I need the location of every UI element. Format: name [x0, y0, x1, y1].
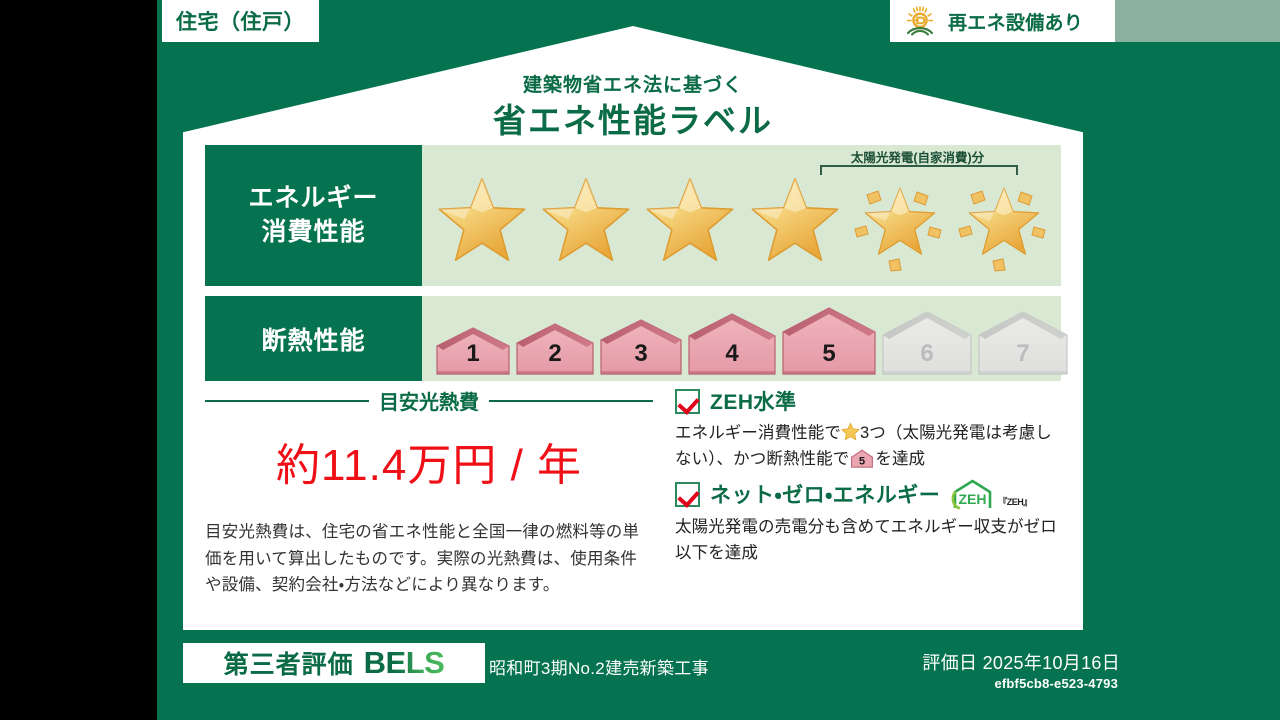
insulation-step-active: 4: [686, 311, 778, 377]
energy-performance-row: エネルギー 消費性能 太陽光発電(自家消費)分: [205, 145, 1061, 286]
star-shape: [538, 175, 634, 271]
card-title: 省エネ性能ラベル: [183, 100, 1083, 141]
claim-zeh-level-title: ZEH水準: [710, 386, 797, 416]
insulation-step-scale: 1 2: [434, 302, 1053, 377]
star-icon-filled: [538, 175, 634, 273]
star-shape: [965, 185, 1043, 263]
solar-annotation-label: 太陽光発電(自家消費)分: [810, 147, 1025, 166]
insulation-step-inactive: 6: [880, 309, 974, 377]
claim-text-part1: エネルギー消費性能で: [675, 424, 841, 442]
zeh-logo: ZEH 『ZEH』: [950, 478, 1032, 510]
lower-section: 目安光熱費 約11.4万円 / 年 目安光熱費は、住宅の省エネ性能と全国一律の燃…: [205, 386, 1061, 596]
insulation-performance-row: 断熱性能 1: [205, 296, 1061, 381]
evaluation-date: 評価日 2025年10月16日: [700, 649, 1120, 675]
insulation-step-number: 5: [822, 340, 835, 377]
energy-label-card: 建築物省エネ法に基づく 省エネ性能ラベル エネルギー 消費性能 太陽光発電(自家…: [183, 26, 1083, 630]
star-icon: [841, 422, 860, 441]
claim-net-zero-body: 太陽光発電の売電分も含めてエネルギー収支がゼロ以下を達成: [675, 515, 1061, 566]
claim-zeh-level: ZEH水準 エネルギー消費性能で3つ（太陽光発電は考慮しない）、かつ断熱性能で5…: [675, 386, 1061, 472]
claim-net-zero-title: ネット・ゼロ・エネルギー: [710, 479, 940, 509]
utility-cost-value: 約11.4万円 / 年: [205, 429, 653, 493]
rating-rows: エネルギー 消費性能 太陽光発電(自家消費)分: [205, 145, 1061, 391]
star-shape: [747, 175, 843, 271]
heading-rule-right: [489, 400, 653, 402]
claim-text-part3: を達成: [875, 450, 925, 468]
energy-performance-value-area: 太陽光発電(自家消費)分: [422, 145, 1061, 286]
claims-block: ZEH水準 エネルギー消費性能で3つ（太陽光発電は考慮しない）、かつ断熱性能で5…: [653, 386, 1061, 596]
star-shape: [861, 185, 939, 263]
star-shape: [434, 175, 530, 271]
energy-label-line1: エネルギー: [248, 182, 378, 216]
claim-zeh-level-head: ZEH水準: [675, 386, 1061, 416]
insulation-step-active: 3: [598, 317, 684, 377]
star-shape: [642, 175, 738, 271]
utility-cost-block: 目安光熱費 約11.4万円 / 年 目安光熱費は、住宅の省エネ性能と全国一律の燃…: [205, 386, 653, 596]
renewable-badge-label: 再エネ設備あり: [948, 8, 1083, 35]
star-icon-filled: [434, 175, 530, 273]
solar-sun-icon: [904, 6, 940, 36]
claim-zeh-level-body: エネルギー消費性能で3つ（太陽光発電は考慮しない）、かつ断熱性能で5を達成: [675, 421, 1061, 472]
insulation-step-number: 6: [920, 340, 933, 377]
renewable-energy-badge: 再エネ設備あり: [890, 0, 1115, 42]
project-name: 昭和町3期No.2建売新築工事: [489, 654, 709, 679]
insulation-step-number: 3: [634, 340, 647, 377]
insulation-performance-label: 断熱性能: [205, 296, 422, 381]
energy-label-line2: 消費性能: [261, 216, 365, 250]
claim-net-zero-head: ネット・ゼロ・エネルギー ZEH 『ZEH』: [675, 478, 1061, 510]
insulation-step-active: 2: [514, 321, 596, 377]
heading-rule-left: [205, 400, 369, 402]
zeh-logo-caption: 『ZEH』: [998, 495, 1032, 510]
house-step-icon: 5: [849, 448, 875, 469]
insulation-step-active: 5: [780, 305, 878, 377]
utility-cost-heading: 目安光熱費: [205, 386, 653, 415]
insulation-step-number: 4: [725, 340, 738, 377]
star-icon-solar: [955, 175, 1051, 273]
house-step-number: 5: [859, 455, 865, 467]
utility-cost-note: 目安光熱費は、住宅の省エネ性能と全国一律の燃料等の単価を用いて算出したものです。…: [205, 519, 653, 599]
star-icon-filled: [642, 175, 738, 273]
energy-performance-label: エネルギー 消費性能: [205, 145, 422, 286]
screenshot-root: 住宅（住戸） 再エネ設備あり 建築物省エネ法に基: [0, 0, 1280, 720]
housing-type-chip: 住宅（住戸）: [162, 0, 319, 42]
insulation-performance-value-area: 1 2: [422, 296, 1061, 381]
claim-net-zero-energy: ネット・ゼロ・エネルギー ZEH 『ZEH』 太陽光発電の売電分も含めてエネルギ…: [675, 478, 1061, 566]
bels-en-label: BELS: [364, 645, 445, 681]
check-icon: [675, 482, 700, 507]
insulation-step-number: 1: [466, 340, 479, 377]
check-icon: [675, 389, 700, 414]
insulation-step-active: 1: [434, 325, 512, 377]
star-rating: [434, 171, 1051, 277]
bels-jp-label: 第三者評価: [224, 645, 354, 681]
bels-badge: 第三者評価 BELS: [183, 643, 485, 683]
zeh-house-logo-icon: ZEH: [950, 478, 996, 510]
insulation-step-number: 2: [548, 340, 561, 377]
star-icon-solar: [851, 175, 947, 273]
insulation-step-inactive: 7: [976, 309, 1070, 377]
evaluation-id: efbf5cb8-e523-4793: [700, 676, 1118, 691]
housing-type-label: 住宅（住戸）: [176, 6, 305, 36]
utility-cost-heading-text: 目安光熱費: [379, 386, 479, 415]
zeh-logo-text: ZEH: [959, 491, 987, 507]
star-icon-filled: [747, 175, 843, 273]
insulation-label-text: 断熱性能: [261, 321, 365, 357]
page-tint-strip: [1115, 0, 1280, 42]
insulation-step-number: 7: [1016, 340, 1029, 377]
